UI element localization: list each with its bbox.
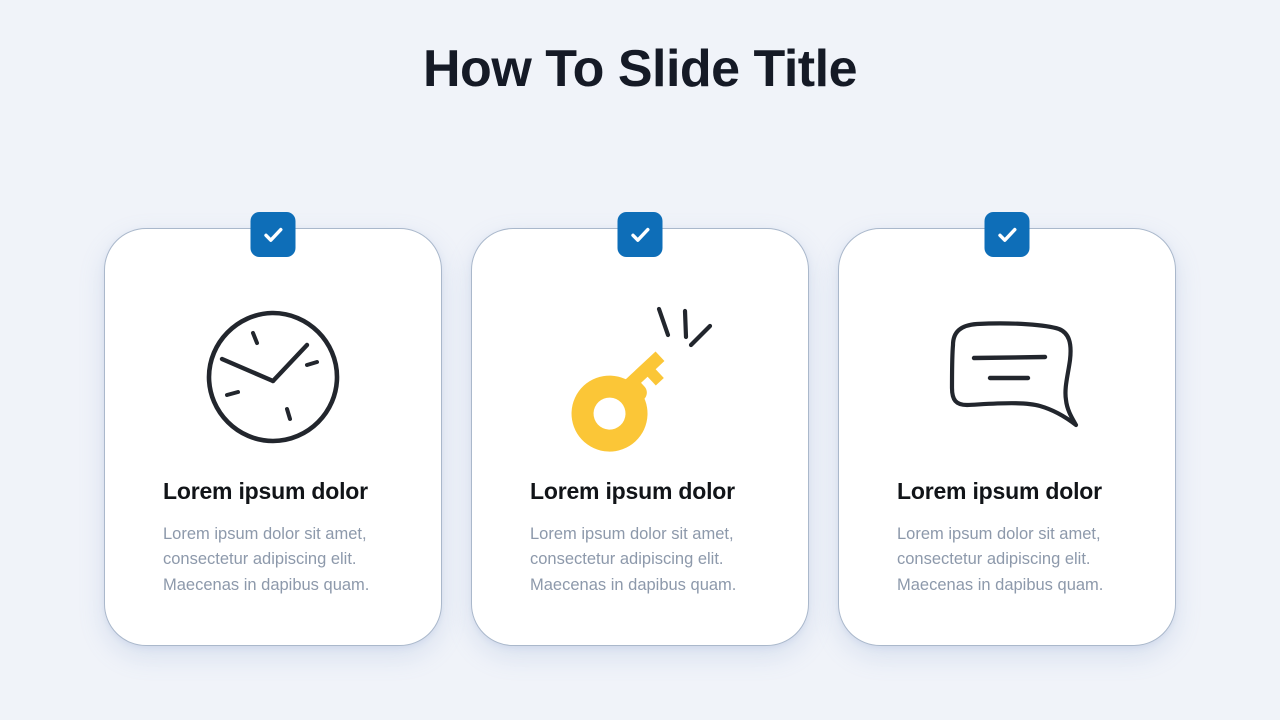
- key-icon: [472, 287, 808, 467]
- card-body: Lorem ipsum dolor sit amet, consectetur …: [530, 522, 748, 599]
- check-icon: [618, 212, 663, 257]
- feature-card-3[interactable]: Lorem ipsum dolor Lorem ipsum dolor sit …: [838, 228, 1176, 646]
- card-heading: Lorem ipsum dolor: [530, 477, 768, 506]
- card-body: Lorem ipsum dolor sit amet, consectetur …: [163, 522, 381, 599]
- check-icon: [251, 212, 296, 257]
- clock-icon: [105, 287, 441, 467]
- card-heading: Lorem ipsum dolor: [897, 477, 1135, 506]
- feature-card-1[interactable]: Lorem ipsum dolor Lorem ipsum dolor sit …: [104, 228, 442, 646]
- card-body: Lorem ipsum dolor sit amet, consectetur …: [897, 522, 1115, 599]
- card-text-block: Lorem ipsum dolor Lorem ipsum dolor sit …: [897, 477, 1135, 599]
- page-title: How To Slide Title: [0, 38, 1280, 100]
- card-heading: Lorem ipsum dolor: [163, 477, 401, 506]
- speech-bubble-icon: [839, 287, 1175, 467]
- check-icon: [985, 212, 1030, 257]
- card-text-block: Lorem ipsum dolor Lorem ipsum dolor sit …: [163, 477, 401, 599]
- feature-cards-row: Lorem ipsum dolor Lorem ipsum dolor sit …: [104, 228, 1176, 648]
- feature-card-2[interactable]: Lorem ipsum dolor Lorem ipsum dolor sit …: [471, 228, 809, 646]
- card-text-block: Lorem ipsum dolor Lorem ipsum dolor sit …: [530, 477, 768, 599]
